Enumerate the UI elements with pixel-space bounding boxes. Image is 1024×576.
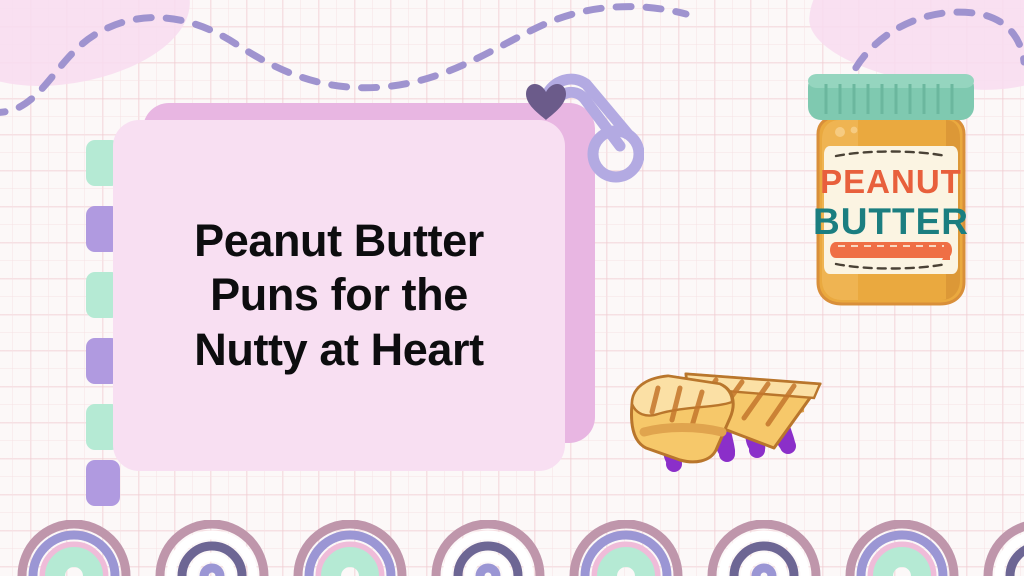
grilled-pbj-sandwich-icon bbox=[624, 300, 839, 485]
jar-label-peanut: PEANUT bbox=[820, 163, 962, 200]
page-title-line-2: Puns for the bbox=[210, 269, 468, 320]
page-title-line-1: Peanut Butter bbox=[194, 215, 484, 266]
page-title: Peanut Butter Puns for the Nutty at Hear… bbox=[168, 214, 510, 377]
binder-tab-6 bbox=[86, 460, 120, 506]
peanut-butter-jar-icon: PEANUT BUTTER bbox=[796, 60, 986, 308]
page-title-line-3: Nutty at Heart bbox=[194, 324, 483, 375]
title-card: Peanut Butter Puns for the Nutty at Hear… bbox=[113, 120, 565, 471]
jar-label-butter: BUTTER bbox=[813, 201, 969, 242]
rainbow-scallop-border bbox=[0, 520, 1024, 576]
safety-pin-icon bbox=[524, 58, 644, 188]
slide-canvas: Peanut Butter Puns for the Nutty at Hear… bbox=[0, 0, 1024, 576]
